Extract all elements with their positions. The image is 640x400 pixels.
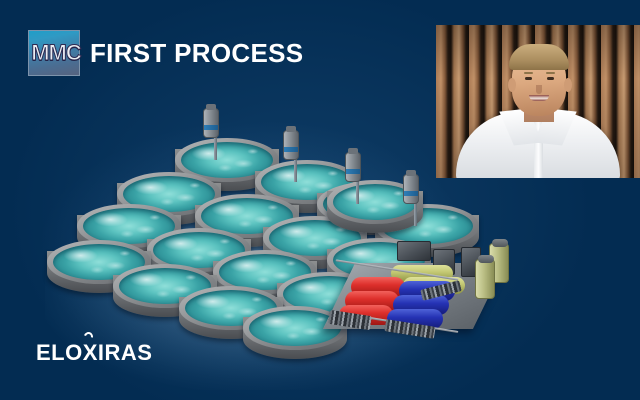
aerator-unit: [403, 174, 419, 226]
presenter-eye-left: [525, 77, 532, 80]
presenter-hair: [509, 44, 569, 70]
upright-vessel: [475, 259, 495, 299]
mmc-logo-text: MMC: [25, 40, 87, 66]
process-skid: [325, 225, 525, 340]
aerator-body: [345, 152, 361, 182]
upright-vessel-cap: [478, 255, 494, 263]
aerator-unit: [203, 108, 219, 160]
aerator-cap: [206, 104, 216, 110]
aerator-unit: [283, 130, 299, 182]
brand-lockup: MMC FIRST PROCESS: [28, 30, 303, 76]
screen: MMC FIRST PROCESS: [0, 0, 640, 400]
presenter-ear-left: [508, 78, 516, 92]
aerator-body: [403, 174, 419, 204]
presenter-ear-right: [564, 78, 572, 92]
eloxiras-logo: ELOXIRAS: [36, 340, 152, 366]
aerator-cap: [406, 170, 416, 176]
aerator-cap: [286, 126, 296, 132]
presenter-video-tile[interactable]: [436, 25, 640, 178]
upright-vessel-cap: [492, 239, 508, 247]
mmc-logo-mark: MMC: [28, 30, 80, 76]
presenter-figure: [436, 28, 640, 178]
skid-control-box: [397, 241, 431, 261]
presenter-eye-right: [547, 77, 554, 80]
brand-wordmark: FIRST PROCESS: [90, 38, 303, 69]
aerator-label-band: [404, 191, 418, 196]
presenter-nose: [536, 85, 542, 94]
presenter-eyebrow-right: [546, 72, 555, 74]
presenter-eyebrow-left: [524, 72, 533, 74]
aerator-label-band: [204, 125, 218, 130]
aerator-label-band: [346, 169, 360, 174]
presenter-mouth: [529, 95, 549, 101]
aerator-body: [203, 108, 219, 138]
aerator-cap: [348, 148, 358, 154]
aerator-body: [283, 130, 299, 160]
eloxiras-logo-suffix: IRAS: [98, 340, 153, 365]
eloxiras-logo-x-wrap: X: [83, 340, 98, 366]
eloxiras-logo-prefix: ELO: [36, 340, 83, 365]
aerator-unit: [345, 152, 361, 204]
aerator-label-band: [284, 147, 298, 152]
eloxiras-logo-x: X: [83, 340, 98, 365]
